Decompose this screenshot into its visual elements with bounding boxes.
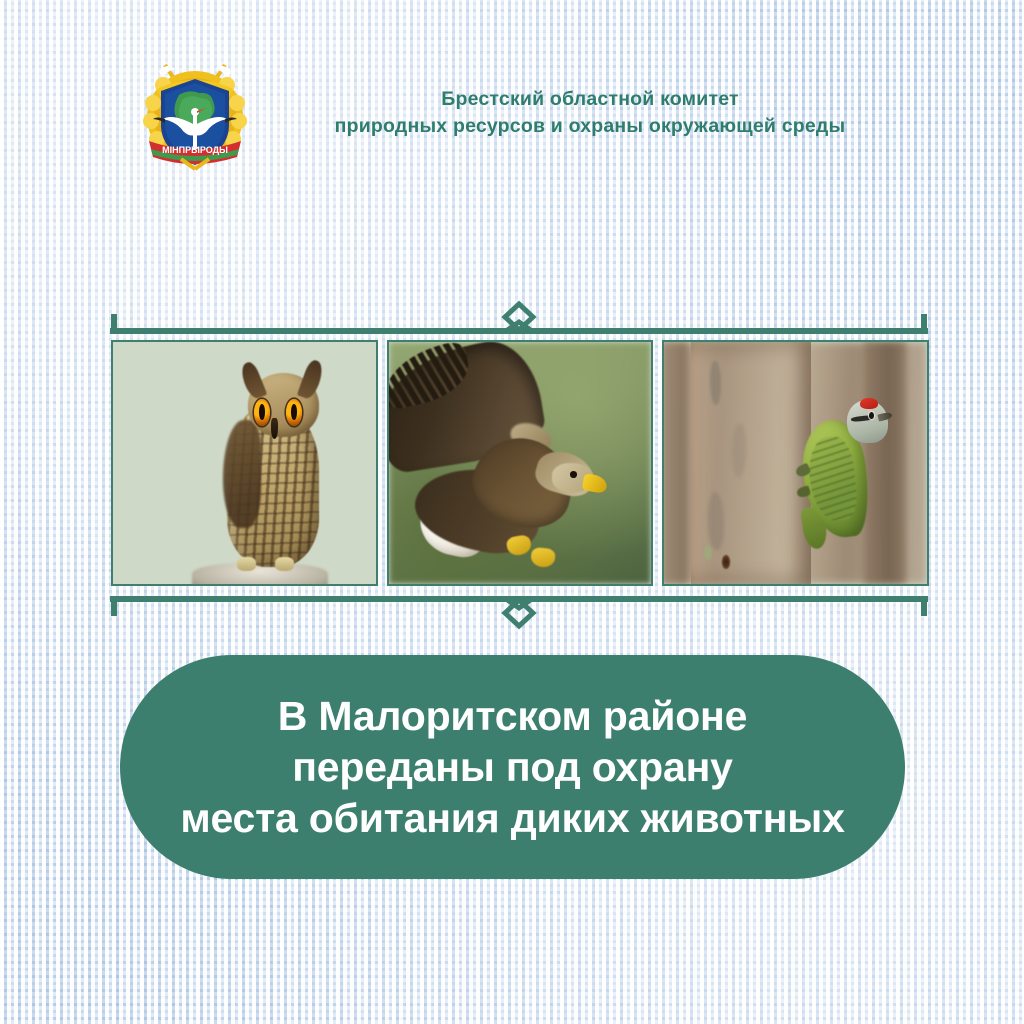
- eagle-eye: [570, 471, 577, 477]
- emblem-ribbon-text: МІНПРЫРОДЫ: [162, 145, 228, 155]
- minpriroda-emblem-icon: МІНПРЫРОДЫ: [141, 55, 249, 171]
- headline-line-2: переданы под охрану: [153, 742, 873, 793]
- organization-title-line2: природных ресурсов и охраны окружающей с…: [265, 113, 915, 140]
- owl-figure: [221, 373, 326, 567]
- photo-eagle-owl[interactable]: [111, 340, 378, 586]
- woodpecker-figure: [801, 398, 890, 538]
- ornament-rule-top: [110, 300, 928, 344]
- background-trunk-left: [664, 342, 688, 584]
- headline-line-3: места обитания диких животных: [153, 793, 873, 844]
- organization-title-line1: Брестский областной комитет: [265, 86, 915, 113]
- headline-line-1: В Малоритском районе: [153, 691, 873, 742]
- photo-white-tailed-eagle[interactable]: [387, 340, 654, 586]
- photo-grey-headed-woodpecker[interactable]: [662, 340, 929, 586]
- photo-gallery: [111, 340, 929, 582]
- headline-text: В Малоритском районе переданы под охрану…: [153, 691, 873, 844]
- headline-card: В Малоритском районе переданы под охрану…: [120, 655, 905, 879]
- ornament-rule-bottom: [110, 586, 928, 630]
- organization-title: Брестский областной комитет природных ре…: [265, 86, 915, 140]
- poster: МІНПРЫРОДЫ Брестский областной комитет п…: [0, 0, 1024, 1024]
- pine-trunk: [691, 342, 812, 584]
- header: МІНПРЫРОДЫ Брестский областной комитет п…: [0, 0, 1024, 200]
